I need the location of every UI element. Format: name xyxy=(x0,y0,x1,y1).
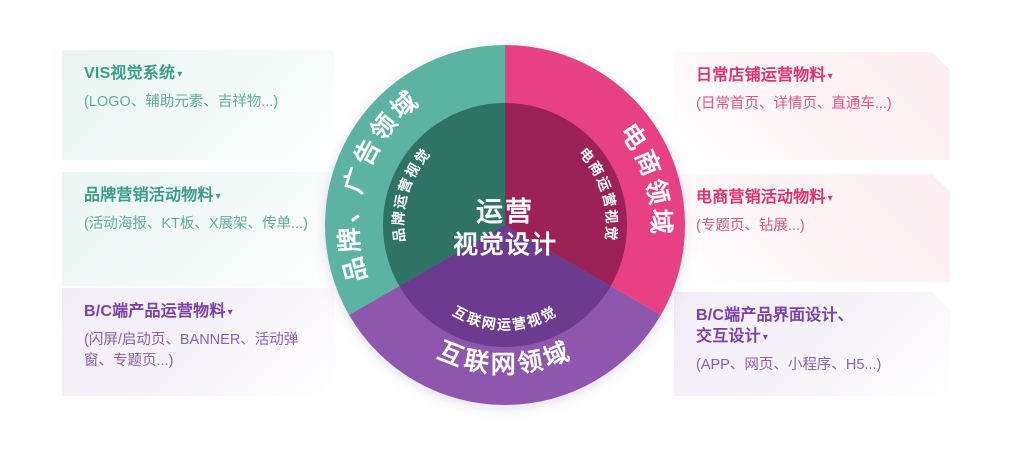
card-subtitle: (专题页、钻展...) xyxy=(696,216,932,237)
chevron-down-icon[interactable]: ▾ xyxy=(177,68,182,81)
card-vis-visual-system[interactable]: VIS视觉系统▾ (LOGO、辅助元素、吉祥物...) xyxy=(62,50,334,160)
chevron-down-icon[interactable]: ▾ xyxy=(828,192,833,205)
center-title-line2: 视觉设计 xyxy=(453,231,557,259)
card-title-text-line1: B/C端产品界面设计、 xyxy=(696,307,854,324)
card-title-text: VIS视觉系统 xyxy=(84,65,175,82)
card-subtitle: (APP、网页、小程序、H5...) xyxy=(696,355,932,376)
center-title-line1: 运营 xyxy=(476,197,534,227)
chevron-down-icon[interactable]: ▾ xyxy=(228,306,233,319)
card-title-text-line2: 交互设计 xyxy=(696,328,761,345)
chevron-down-icon[interactable]: ▾ xyxy=(216,190,221,203)
card-title-text: 电商营销活动物料 xyxy=(696,189,826,206)
card-title-text: 日常店铺运营物料 xyxy=(696,67,826,84)
card-subtitle: (活动海报、KT板、X展架、传单...) xyxy=(84,214,316,235)
card-title: B/C端产品运营物料▾ xyxy=(84,302,316,323)
card-title: B/C端产品界面设计、交互设计▾ xyxy=(696,306,932,348)
infographic-canvas: VIS视觉系统▾ (LOGO、辅助元素、吉祥物...) 品牌营销活动物料▾ (活… xyxy=(0,0,1010,450)
card-title: VIS视觉系统▾ xyxy=(84,64,316,85)
card-title-text: B/C端产品运营物料 xyxy=(84,303,226,320)
card-subtitle: (日常首页、详情页、直通车...) xyxy=(696,94,932,115)
card-subtitle: (闪屏/启动页、BANNER、活动弹窗、专题页...) xyxy=(84,330,316,372)
card-brand-marketing-materials[interactable]: 品牌营销活动物料▾ (活动海报、KT板、X展架、传单...) xyxy=(62,172,334,286)
chevron-down-icon[interactable]: ▾ xyxy=(828,70,833,83)
card-bc-product-ops-materials[interactable]: B/C端产品运营物料▾ (闪屏/启动页、BANNER、活动弹窗、专题页...) xyxy=(62,288,334,396)
card-title: 品牌营销活动物料▾ xyxy=(84,186,316,207)
card-daily-shop-ops-materials[interactable]: 日常店铺运营物料▾ (日常首页、详情页、直通车...) xyxy=(674,52,950,160)
chevron-down-icon[interactable]: ▾ xyxy=(763,331,768,344)
card-bc-ui-interaction-design[interactable]: B/C端产品界面设计、交互设计▾ (APP、网页、小程序、H5...) xyxy=(674,292,950,396)
donut-chart: 品牌、广告领域 电商领域 互联网领域 品牌运营视觉 电商运营视觉 互联网运营视觉… xyxy=(305,25,705,425)
card-title: 电商营销活动物料▾ xyxy=(696,188,932,209)
card-title-text: 品牌营销活动物料 xyxy=(84,187,214,204)
card-ecom-marketing-materials[interactable]: 电商营销活动物料▾ (专题页、钻展...) xyxy=(674,174,950,282)
card-title: 日常店铺运营物料▾ xyxy=(696,66,932,87)
card-subtitle: (LOGO、辅助元素、吉祥物...) xyxy=(84,92,316,113)
